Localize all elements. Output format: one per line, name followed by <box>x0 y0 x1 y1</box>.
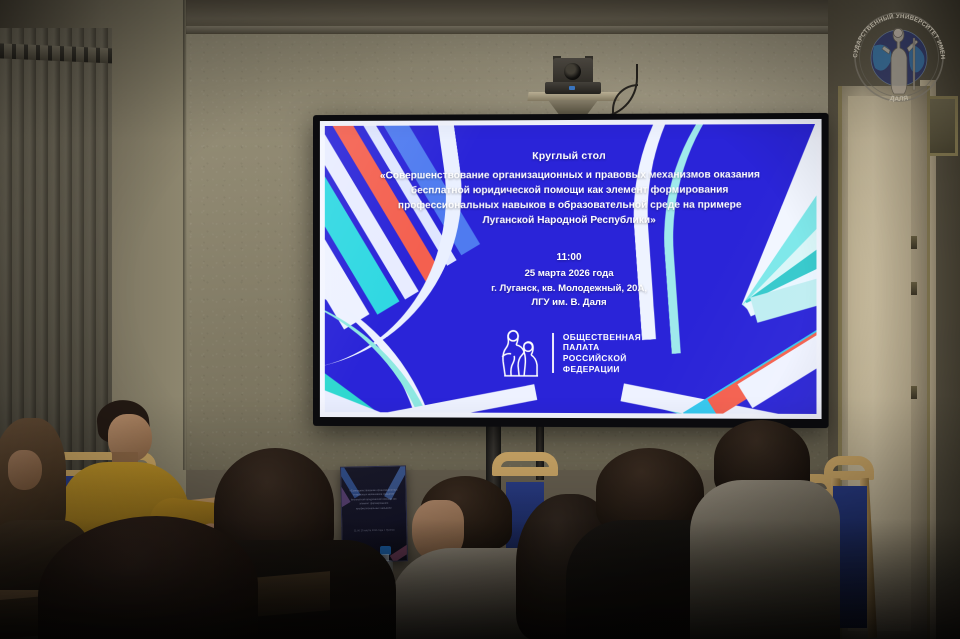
conference-room-photo: Круглый стол «Совершенствование организа… <box>0 0 960 639</box>
ceiling-cornice <box>150 26 850 33</box>
wall-mounted-tv[interactable]: Круглый стол «Совершенствование организа… <box>313 113 829 428</box>
slide-title-line-4: Луганской Народной Республики» <box>320 213 822 229</box>
university-watermark: ЛУГАНСКИЙ ГОСУДАРСТВЕННЫЙ УНИВЕРСИТЕТ ИМ… <box>844 2 954 112</box>
civic-chamber-people-emblem <box>497 326 543 380</box>
slide-date: 25 марта 2026 года <box>320 267 822 282</box>
chair-back-top <box>824 456 874 480</box>
logo-divider <box>552 333 554 373</box>
slide-time: 11:00 <box>320 252 822 263</box>
svg-text:ДАЛЯ: ДАЛЯ <box>889 95 909 103</box>
door-hinge-lower <box>911 386 917 399</box>
slide-title-line-1: «Совершенствование организационных и пра… <box>320 167 822 183</box>
door-hinge-upper <box>911 236 917 249</box>
slide-title-line-3: профессиональных навыков в образовательн… <box>320 197 822 213</box>
slide-title-line-2: бесплатной юридической помощи как элемен… <box>320 182 822 198</box>
slide-institution: ЛГУ им. В. Даля <box>320 296 822 311</box>
logo-wordmark: ОБЩЕСТВЕННАЯ ПАЛАТА РОССИЙСКОЙ ФЕДЕРАЦИИ <box>563 332 641 375</box>
civic-chamber-logo: ОБЩЕСТВЕННАЯ ПАЛАТА РОССИЙСКОЙ ФЕДЕРАЦИИ <box>320 326 822 381</box>
seated-woman-face <box>8 450 42 490</box>
slide-heading-block: Круглый стол «Совершенствование организа… <box>320 149 822 228</box>
man-grey-top-body <box>690 480 840 639</box>
placard-meta-text: 11:00 25 марта 2026 года г. Луганск <box>349 528 399 533</box>
wall-corner-seam <box>183 0 187 470</box>
watermark-text-bottom: ДАЛЯ <box>889 95 909 103</box>
placard-stripe-br <box>390 534 408 563</box>
chair-back-top <box>492 452 558 476</box>
logo-line-3: РОССИЙСКОЙ <box>563 353 641 364</box>
logo-line-4: ФЕДЕРАЦИИ <box>563 364 641 375</box>
logo-line-2: ПАЛАТА <box>563 342 641 353</box>
door-hinge-mid <box>911 282 917 295</box>
slide-event-kind: Круглый стол <box>320 149 822 163</box>
camera-status-led <box>569 86 575 90</box>
logo-line-1: ОБЩЕСТВЕННАЯ <box>563 332 641 343</box>
slide-meta-block: 11:00 25 марта 2026 года г. Луганск, кв.… <box>320 252 822 311</box>
camera-lens-icon <box>564 63 581 80</box>
presentation-slide: Круглый стол «Совершенствование организа… <box>320 119 822 419</box>
slide-address: г. Луганск, кв. Молодежный, 20А, <box>320 281 822 296</box>
placard-body-text: «Совершенствование организационных и пра… <box>348 488 398 511</box>
tv-screen: Круглый стол «Совершенствование организа… <box>320 119 822 419</box>
